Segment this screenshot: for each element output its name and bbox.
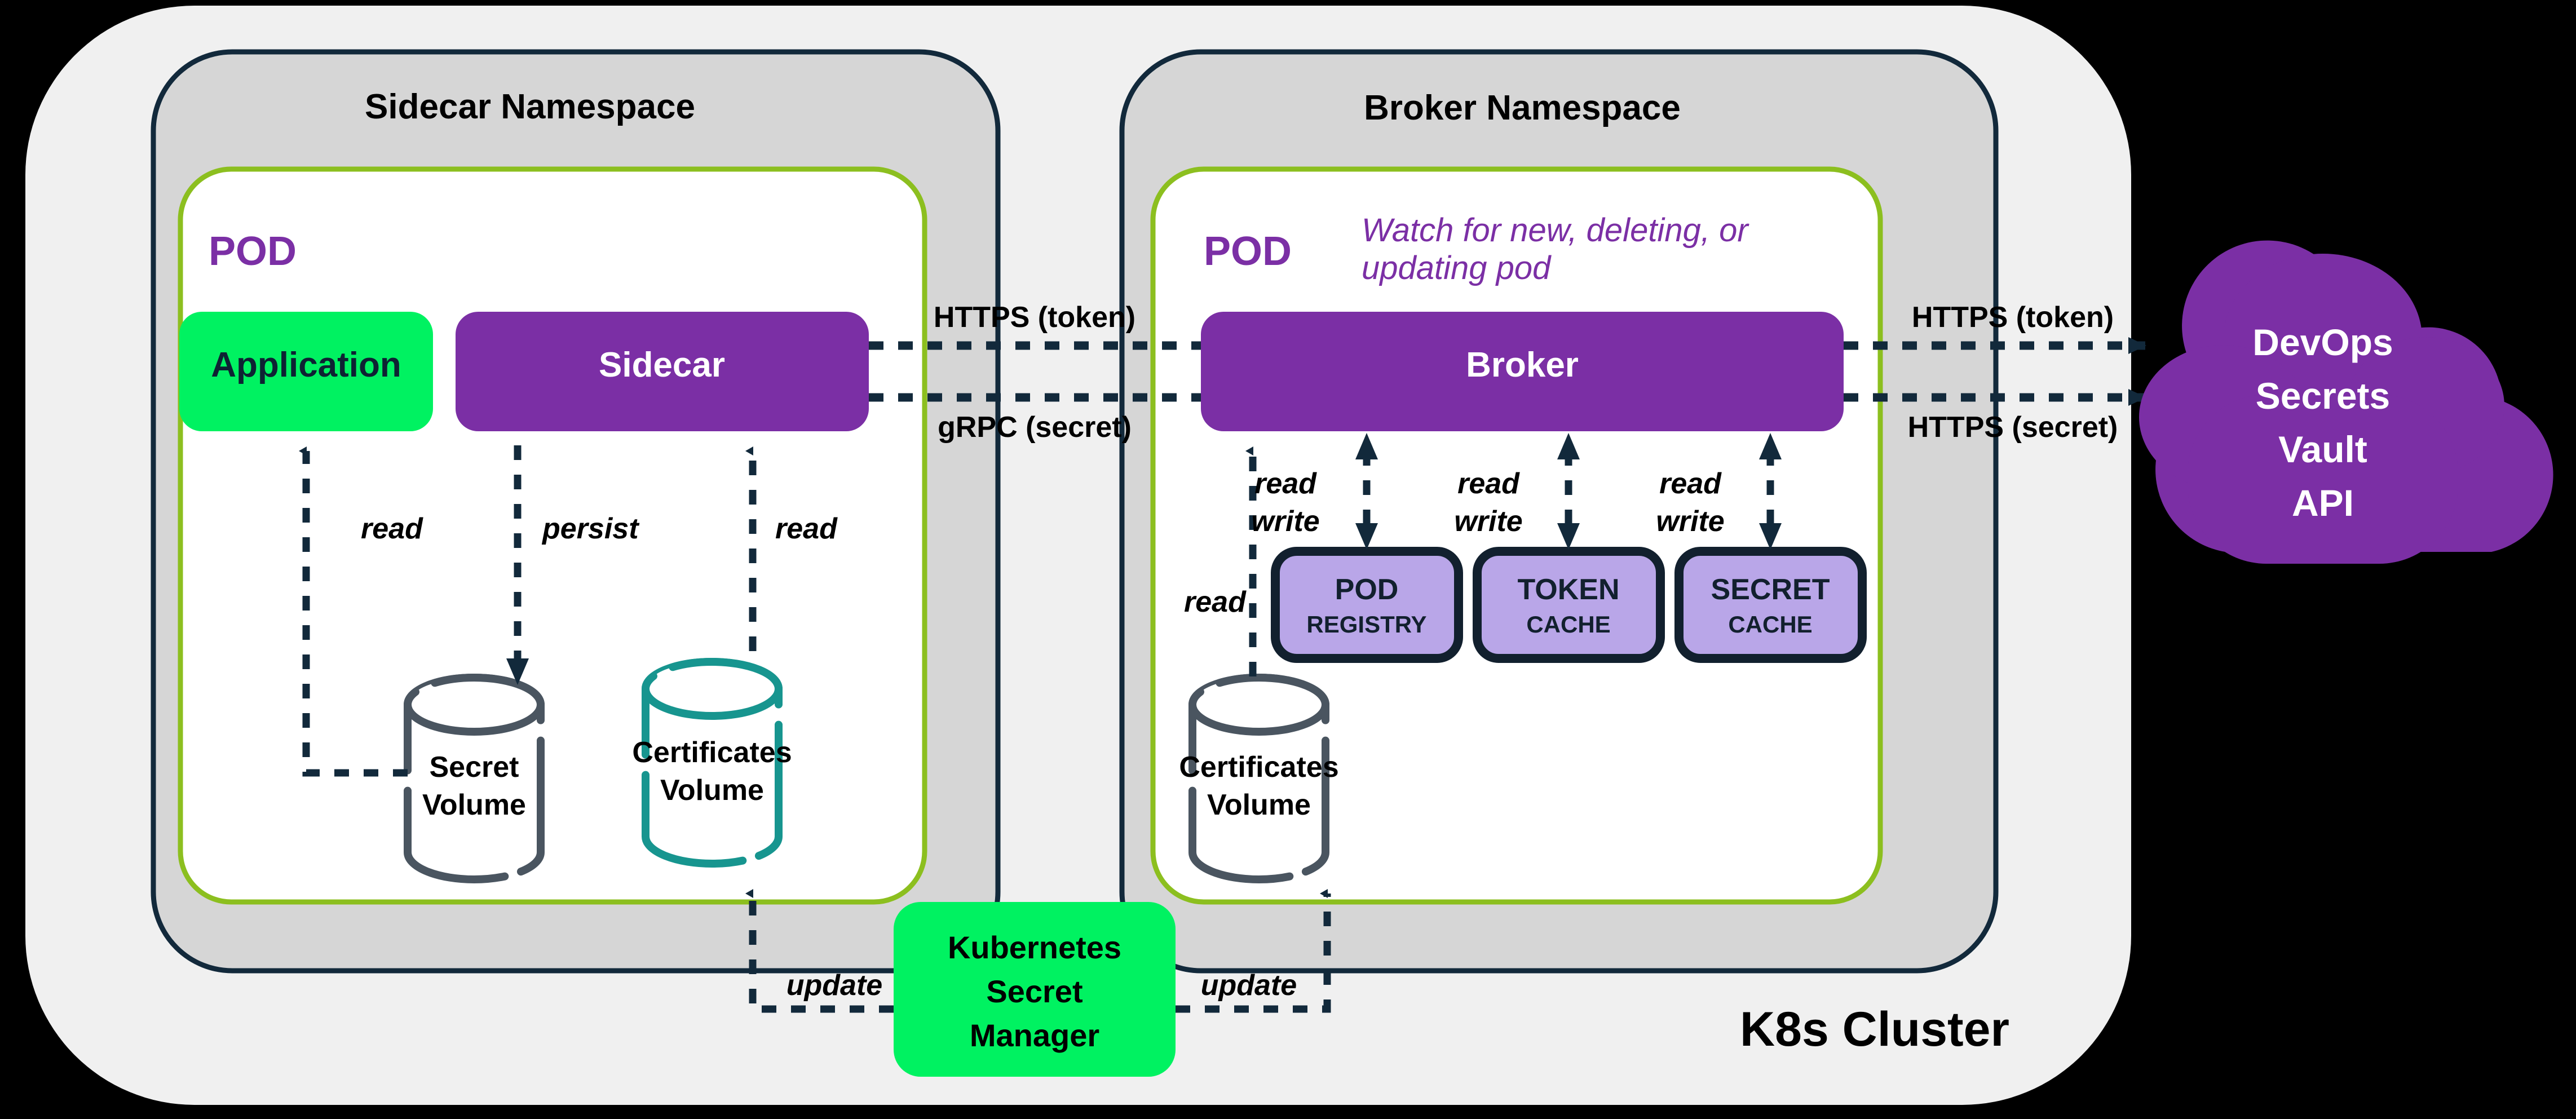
edge-broker-to-vault-secret-label: HTTPS (secret) <box>1908 411 2118 444</box>
kubernetes-secret-manager-line3: Manager <box>970 1018 1099 1053</box>
certificates-volume: Certificates Volume <box>632 662 792 864</box>
certificates-volume-line2: Volume <box>660 774 764 807</box>
pod-registry-box-group[interactable]: POD REGISTRY <box>1275 551 1459 658</box>
sidecar-namespace-title: Sidecar Namespace <box>365 87 695 126</box>
broker-certificates-volume-line1: Certificates <box>1179 751 1338 784</box>
cloud-label-line1: DevOps <box>2252 321 2393 363</box>
broker-certificates-volume-top <box>1192 678 1325 732</box>
sidecar-box-label: Sidecar <box>599 346 725 384</box>
token-cache-line2: CACHE <box>1526 611 1610 638</box>
edge-sidecar-to-broker-secret-label: gRPC (secret) <box>938 411 1132 444</box>
secret-volume: Secret Volume <box>408 678 541 879</box>
edge-ksm-update-right-label: update <box>1201 969 1297 1002</box>
edge-sidecar-to-broker-token-label: HTTPS (token) <box>934 301 1135 334</box>
token-cache-box-group[interactable]: TOKEN CACHE <box>1477 551 1660 658</box>
diagram-canvas: K8s Cluster Sidecar Namespace POD Applic… <box>0 0 2576 1119</box>
edge-ksm-update-left-label: update <box>787 969 882 1002</box>
edge-broker-rw-secret-cache-label2: write <box>1656 505 1724 538</box>
edge-broker-rw-token-cache-label2: write <box>1454 505 1522 538</box>
edge-app-reads-secret-volume-label: read <box>361 512 423 545</box>
broker-certificates-volume-line2: Volume <box>1207 789 1311 821</box>
sidecar-namespace: Sidecar Namespace POD Application Sideca… <box>153 52 998 971</box>
broker-namespace-title: Broker Namespace <box>1364 89 1681 127</box>
pod-registry-line1: POD <box>1335 573 1399 606</box>
application-box-label: Application <box>211 346 401 384</box>
cloud-base <box>2188 395 2458 564</box>
edge-broker-to-vault-token-label: HTTPS (token) <box>1912 301 2114 334</box>
cloud-label-line3: Vault <box>2278 428 2367 470</box>
cluster-label: K8s Cluster <box>1740 1002 2009 1056</box>
secret-cache-box-group[interactable]: SECRET CACHE <box>1679 551 1862 658</box>
broker-pod-note-line2: updating pod <box>1362 250 1552 286</box>
sidecar-pod-label: POD <box>209 229 297 274</box>
edge-broker-rw-secret-cache-label1: read <box>1659 467 1722 500</box>
certificates-volume-line1: Certificates <box>632 736 792 769</box>
kubernetes-secret-manager-line2: Secret <box>986 974 1082 1009</box>
secret-volume-line2: Volume <box>422 789 526 821</box>
secret-volume-top <box>408 678 541 732</box>
token-cache-line1: TOKEN <box>1517 573 1619 606</box>
edge-sidecar-reads-certs-label: read <box>775 512 838 545</box>
broker-certificates-volume: Certificates Volume <box>1179 678 1338 879</box>
broker-pod-note-line1: Watch for new, deleting, or <box>1362 212 1749 249</box>
secret-volume-line1: Secret <box>430 751 519 784</box>
cloud-label-line2: Secrets <box>2256 375 2391 417</box>
broker-box-label: Broker <box>1466 346 1579 384</box>
devops-secrets-vault-api-cloud[interactable]: DevOps Secrets Vault API <box>2139 241 2553 564</box>
secret-cache-line2: CACHE <box>1728 611 1812 638</box>
edge-broker-rw-pod-registry-label1: read <box>1254 467 1317 500</box>
kubernetes-secret-manager-line1: Kubernetes <box>948 930 1121 965</box>
secret-cache-line1: SECRET <box>1711 573 1830 606</box>
edge-broker-reads-certs-label: read <box>1184 586 1247 618</box>
pod-registry-line2: REGISTRY <box>1306 611 1426 638</box>
edge-sidecar-persists-label: persist <box>541 512 640 545</box>
cloud-label-line4: API <box>2292 482 2354 524</box>
certificates-volume-top <box>646 662 779 716</box>
broker-pod-label: POD <box>1204 229 1292 274</box>
edge-broker-rw-pod-registry-label2: write <box>1251 505 1319 538</box>
edge-broker-rw-token-cache-label1: read <box>1457 467 1520 500</box>
broker-namespace: Broker Namespace POD Watch for new, dele… <box>1122 52 1996 971</box>
kubernetes-secret-manager-group[interactable]: Kubernetes Secret Manager <box>894 902 1176 1077</box>
